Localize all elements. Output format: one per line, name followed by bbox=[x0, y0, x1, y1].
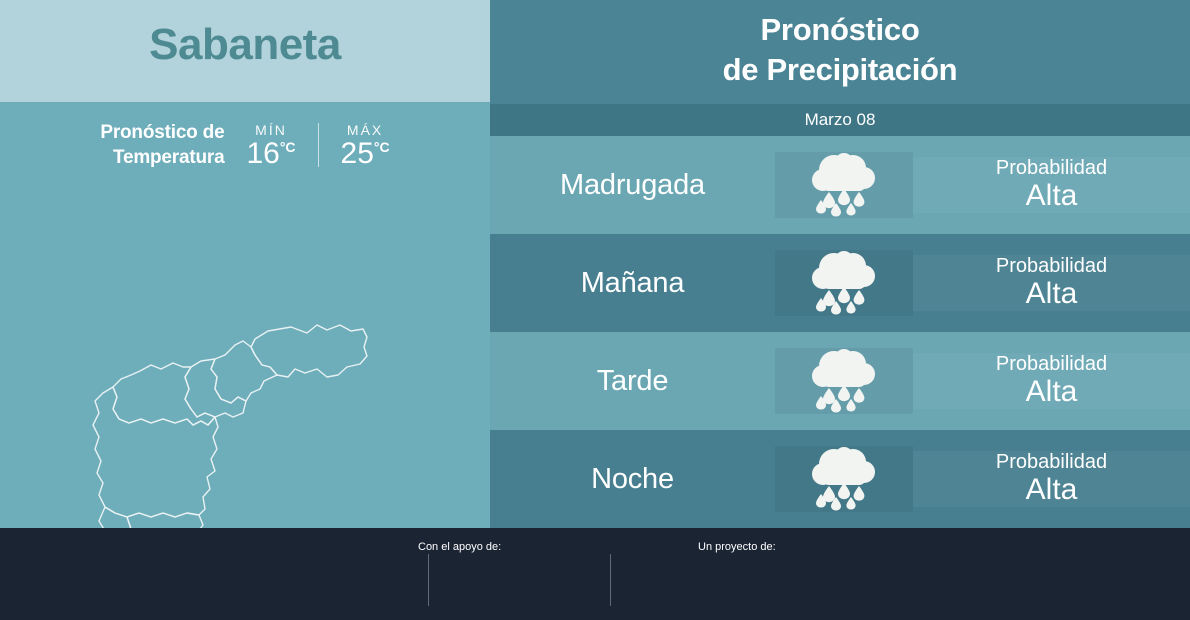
probability-value: Alta bbox=[913, 473, 1190, 507]
row-period: Tarde bbox=[490, 365, 775, 398]
rain-cloud-icon bbox=[775, 348, 913, 414]
rain-cloud-icon bbox=[775, 152, 913, 218]
forecast-rows: Madrugada bbox=[490, 136, 1190, 528]
min-temperature-unit: °C bbox=[280, 139, 296, 155]
row-probability: Probabilidad Alta bbox=[913, 353, 1190, 409]
temperature-label-line2: Temperatura bbox=[100, 145, 224, 170]
probability-value: Alta bbox=[913, 179, 1190, 213]
probability-label: Probabilidad bbox=[913, 353, 1190, 375]
row-probability: Probabilidad Alta bbox=[913, 255, 1190, 311]
table-row: Mañana bbox=[490, 234, 1190, 332]
row-probability: Probabilidad Alta bbox=[913, 157, 1190, 213]
left-panel: Sabaneta Pronóstico de Temperatura MÍN 1… bbox=[0, 0, 490, 528]
rain-cloud-icon bbox=[775, 446, 913, 512]
precipitation-panel: Pronóstico de Precipitación Marzo 08 Mad… bbox=[490, 0, 1190, 528]
map-region-barbosa bbox=[251, 325, 367, 377]
temperature-summary: Pronóstico de Temperatura MÍN 16°C MÁX 2… bbox=[0, 120, 490, 171]
weather-forecast-poster: Sabaneta Pronóstico de Temperatura MÍN 1… bbox=[0, 0, 1190, 620]
max-temperature-value: 25°C bbox=[341, 138, 390, 170]
rain-cloud-icon bbox=[775, 250, 913, 316]
max-temperature-number: 25 bbox=[341, 137, 374, 170]
map-region-bello bbox=[113, 363, 215, 425]
project-caption: Un proyecto de: bbox=[698, 541, 776, 553]
probability-value: Alta bbox=[913, 375, 1190, 409]
support-caption: Con el apoyo de: bbox=[418, 541, 501, 553]
row-probability: Probabilidad Alta bbox=[913, 451, 1190, 507]
row-period: Madrugada bbox=[490, 169, 775, 202]
city-title-band: Sabaneta bbox=[0, 0, 490, 102]
min-temperature-number: 16 bbox=[246, 137, 279, 170]
min-temperature-block: MÍN 16°C bbox=[246, 122, 295, 170]
probability-label: Probabilidad bbox=[913, 157, 1190, 179]
min-temperature-caption: MÍN bbox=[246, 122, 295, 138]
temperature-label-line1: Pronóstico de bbox=[100, 120, 224, 145]
row-period: Noche bbox=[490, 463, 775, 496]
table-row: Madrugada bbox=[490, 136, 1190, 234]
footer-divider bbox=[428, 554, 429, 606]
probability-label: Probabilidad bbox=[913, 451, 1190, 473]
map-region-medellin bbox=[93, 387, 218, 517]
temperature-divider bbox=[318, 123, 319, 167]
forecast-title: Pronóstico de Precipitación bbox=[490, 10, 1190, 91]
forecast-title-line1: Pronóstico bbox=[490, 10, 1190, 50]
map-region-girardota bbox=[211, 341, 277, 403]
page-title: Sabaneta bbox=[0, 20, 490, 70]
max-temperature-block: MÁX 25°C bbox=[341, 122, 390, 170]
table-row: Tarde bbox=[490, 332, 1190, 430]
forecast-date: Marzo 08 bbox=[490, 110, 1190, 130]
table-row: Noche bbox=[490, 430, 1190, 528]
probability-label: Probabilidad bbox=[913, 255, 1190, 277]
min-temperature-value: 16°C bbox=[246, 138, 295, 170]
temperature-label: Pronóstico de Temperatura bbox=[100, 120, 224, 171]
row-period: Mañana bbox=[490, 267, 775, 300]
probability-value: Alta bbox=[913, 277, 1190, 311]
forecast-title-line2: de Precipitación bbox=[490, 50, 1190, 90]
forecast-date-band: Marzo 08 bbox=[490, 104, 1190, 136]
map-region-copacabana bbox=[185, 359, 246, 417]
footer-divider bbox=[610, 554, 611, 606]
temperature-map-panel: Pronóstico de Temperatura MÍN 16°C MÁX 2… bbox=[0, 102, 490, 528]
max-temperature-unit: °C bbox=[374, 139, 390, 155]
footer: Con el apoyo de: Un proyecto de: SIATA bbox=[0, 528, 1190, 620]
max-temperature-caption: MÁX bbox=[341, 122, 390, 138]
